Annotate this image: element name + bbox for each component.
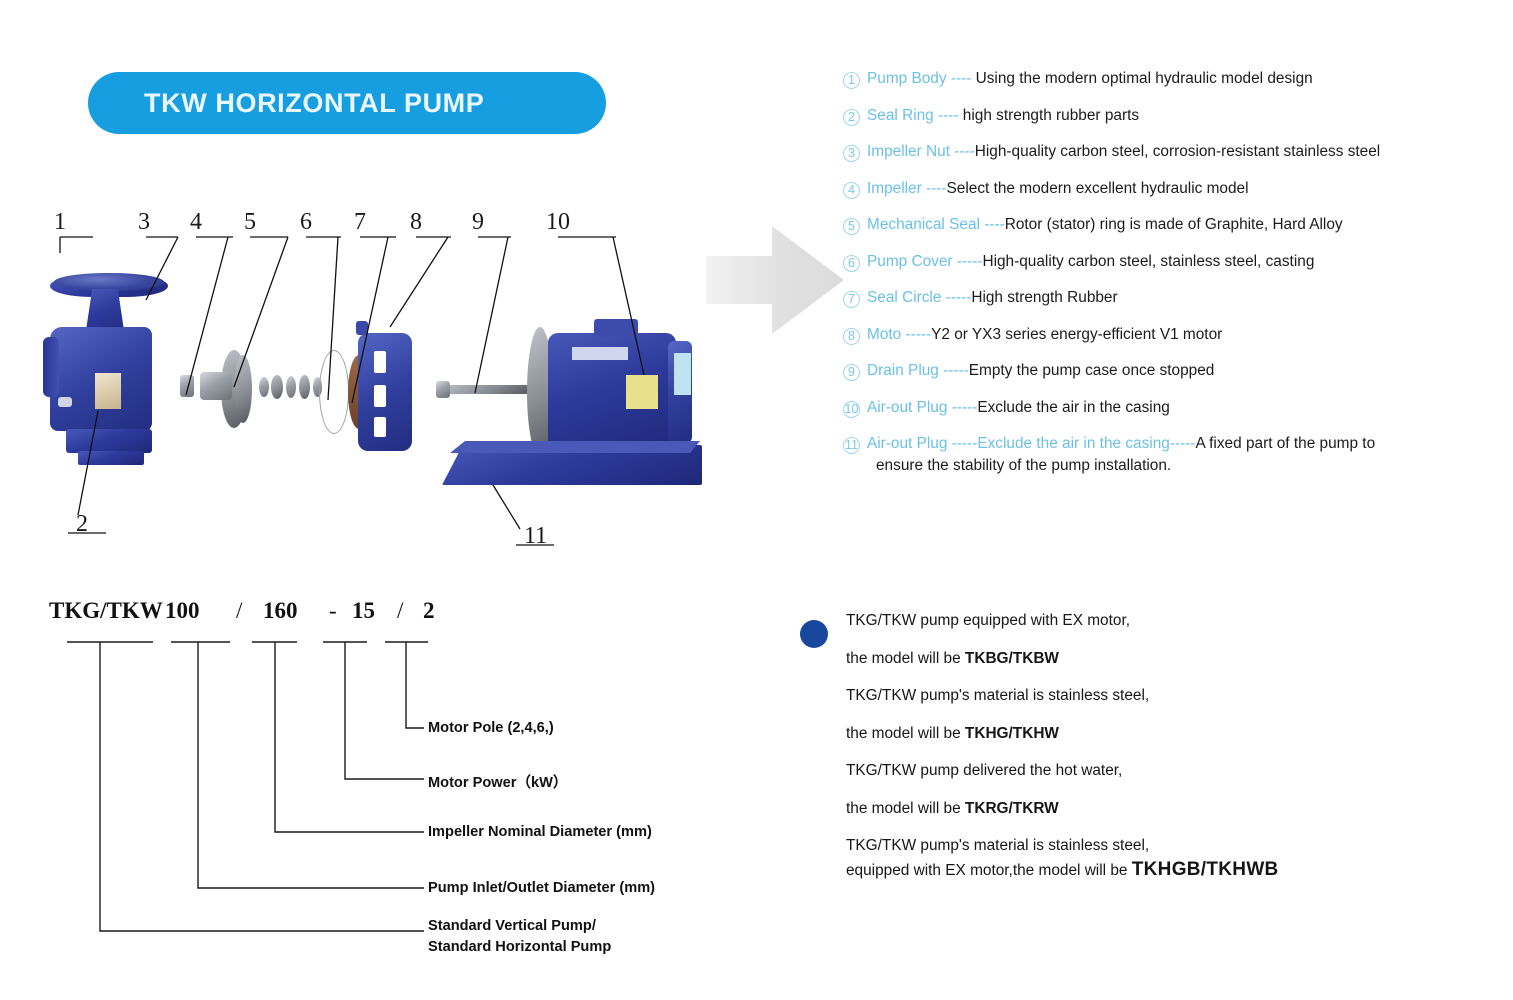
feature-number-6: 6 [843,255,860,272]
page-title: TKW HORIZONTAL PUMP [88,88,484,119]
callout-number-9: 9 [472,209,484,236]
feature-text-3: Impeller Nut ----High-quality carbon ste… [867,143,1503,162]
note-1-pre: TKG [846,612,878,629]
feature-dash2-11: ----- [1170,435,1196,452]
model-code-leader-lines [40,598,740,958]
feature-dash-3: ---- [950,143,975,160]
feature-item-3: 3 Impeller Nut ----High-quality carbon s… [843,143,1503,162]
feature-desc-8: Y2 or YX3 series energy-efficient V1 mot… [931,326,1222,343]
feature-desc-3: High-quality carbon steel, corrosion-res… [975,143,1380,160]
feature-desc-1: Using the modern optimal hydraulic model… [976,70,1313,87]
note-2-plain: the model will be [846,650,965,667]
feature-label-10: Air-out Plug [867,399,947,416]
feature-dash-5: ---- [980,216,1005,233]
model-code-diagram: TKG/TKW 100 / 160 - 15 / 2 [40,598,740,958]
note-line-3: TKG/TKW pump's material is stainless ste… [846,687,1440,705]
note-7-post: TKW pump's material is stainless steel, [882,837,1149,854]
feature-item-1: 1 Pump Body ---- Using the modern optima… [843,70,1503,89]
feature-desc-6: High-quality carbon steel, stainless ste… [982,253,1314,270]
title-banner: TKW HORIZONTAL PUMP [88,72,606,134]
model-label-standard-pump-line2: Standard Horizontal Pump [428,937,611,958]
feature-label-11: Air-out Plug [867,435,947,452]
feature-label-2: Seal Ring [867,107,934,124]
feature-text-1: Pump Body ---- Using the modern optimal … [867,70,1503,89]
feature-number-1: 1 [843,72,860,89]
feature-text-6: Pump Cover -----High-quality carbon stee… [867,253,1503,272]
poster-root: TKW HORIZONTAL PUMP [0,0,1513,1000]
model-label-motor-power: Motor Power（kW） [428,771,567,792]
note-line-2: the model will be TKBG/TKBW [846,650,1440,668]
exploded-pump-diagram: 1 3 4 5 6 7 8 9 10 2 11 [38,215,678,555]
note-7-pre: TKG [846,837,878,854]
note-2-model: TKBG/TKBW [965,650,1059,667]
feature-label-7: Seal Circle [867,289,941,306]
feature-number-9: 9 [843,364,860,381]
model-label-inlet-outlet-diameter: Pump Inlet/Outlet Diameter (mm) [428,880,655,896]
feature-number-11: 11 [843,437,860,454]
callout-number-4: 4 [190,209,202,236]
model-label-standard-pump: Standard Vertical Pump/ Standard Horizon… [428,916,611,957]
feature-dash-6: ----- [953,253,983,270]
note-8-model: TKHGB/TKHWB [1132,859,1279,880]
feature-continuation-11: ensure the stability of the pump install… [867,457,1503,476]
feature-desc-alt-11: Exclude the air in the casing [977,435,1170,452]
feature-text-5: Mechanical Seal ----Rotor (stator) ring … [867,216,1503,235]
feature-text-9: Drain Plug -----Empty the pump case once… [867,362,1503,381]
feature-label-5: Mechanical Seal [867,216,980,233]
feature-list: 1 Pump Body ---- Using the modern optima… [843,70,1503,493]
note-5-pre: TKG [846,762,878,779]
callout-number-7: 7 [354,209,366,236]
feature-item-9: 9 Drain Plug -----Empty the pump case on… [843,362,1503,381]
feature-number-5: 5 [843,218,860,235]
feature-dash-11: ----- [947,435,977,452]
feature-item-10: 10 Air-out Plug -----Exclude the air in … [843,399,1503,418]
callout-number-10: 10 [546,209,570,236]
feature-dash-9: ----- [939,362,969,379]
note-1-post: TKW pump equipped with EX motor, [882,612,1130,629]
note-line-8: equipped with EX motor,the model will be… [846,859,1440,881]
callout-number-11: 11 [524,523,547,550]
feature-dash-4: ---- [922,180,947,197]
arrow-right-icon [706,222,846,338]
note-line-4: the model will be TKHG/TKHW [846,725,1440,743]
feature-dash-7: ----- [941,289,971,306]
feature-desc-7: High strength Rubber [971,289,1117,306]
feature-desc-4: Select the modern excellent hydraulic mo… [947,180,1249,197]
feature-text-8: Moto -----Y2 or YX3 series energy-effici… [867,326,1503,345]
note-5-post: TKW pump delivered the hot water, [882,762,1122,779]
note-line-5: TKG/TKW pump delivered the hot water, [846,762,1440,780]
feature-item-6: 6 Pump Cover -----High-quality carbon st… [843,253,1503,272]
feature-text-10: Air-out Plug -----Exclude the air in the… [867,399,1503,418]
note-3-pre: TKG [846,687,878,704]
feature-text-2: Seal Ring ---- high strength rubber part… [867,107,1503,126]
note-line-6: the model will be TKRG/TKRW [846,800,1440,818]
feature-dash-8: ----- [901,326,931,343]
feature-desc-2: high strength rubber parts [963,107,1139,124]
feature-label-4: Impeller [867,180,922,197]
feature-item-5: 5 Mechanical Seal ----Rotor (stator) rin… [843,216,1503,235]
notes-lines: TKG/TKW pump equipped with EX motor, the… [846,612,1440,881]
callout-number-5: 5 [244,209,256,236]
note-line-1: TKG/TKW pump equipped with EX motor, [846,612,1440,630]
feature-item-11: 11 Air-out Plug -----Exclude the air in … [843,435,1503,476]
feature-number-4: 4 [843,182,860,199]
callout-number-2: 2 [76,511,88,538]
feature-label-3: Impeller Nut [867,143,950,160]
feature-number-3: 3 [843,145,860,162]
note-line-7: TKG/TKW pump's material is stainless ste… [846,837,1440,855]
feature-text-7: Seal Circle -----High strength Rubber [867,289,1503,308]
feature-number-2: 2 [843,109,860,126]
feature-item-4: 4 Impeller ----Select the modern excelle… [843,180,1503,199]
feature-desc-10: Exclude the air in the casing [977,399,1170,416]
feature-number-8: 8 [843,328,860,345]
note-4-model: TKHG/TKHW [965,725,1059,742]
feature-dash-10: ----- [947,399,977,416]
model-label-standard-pump-line1: Standard Vertical Pump/ [428,916,611,937]
model-label-impeller-diameter: Impeller Nominal Diameter (mm) [428,824,652,840]
model-variants-notes: TKG/TKW pump equipped with EX motor, the… [800,612,1440,901]
callout-number-1: 1 [54,209,66,236]
feature-item-2: 2 Seal Ring ---- high strength rubber pa… [843,107,1503,126]
callout-number-6: 6 [300,209,312,236]
feature-desc-9: Empty the pump case once stopped [969,362,1215,379]
bullet-dot-icon [800,620,828,648]
note-4-plain: the model will be [846,725,965,742]
callout-number-3: 3 [138,209,150,236]
feature-item-8: 8 Moto -----Y2 or YX3 series energy-effi… [843,326,1503,345]
feature-dash-2: ---- [934,107,963,124]
feature-label-1: Pump Body [867,70,947,87]
feature-text-4: Impeller ----Select the modern excellent… [867,180,1503,199]
feature-number-7: 7 [843,291,860,308]
feature-text-11: Air-out Plug -----Exclude the air in the… [867,435,1503,476]
note-6-model: TKRG/TKRW [965,800,1059,817]
feature-number-10: 10 [843,401,860,418]
model-label-motor-pole: Motor Pole (2,4,6,) [428,720,554,736]
callout-leader-lines [38,215,678,555]
feature-desc-5: Rotor (stator) ring is made of Graphite,… [1005,216,1343,233]
feature-desc-11: A fixed part of the pump to [1195,435,1375,452]
note-3-post: TKW pump's material is stainless steel, [882,687,1149,704]
note-6-plain: the model will be [846,800,965,817]
feature-dash-1: ---- [947,70,976,87]
feature-label-9: Drain Plug [867,362,939,379]
feature-label-6: Pump Cover [867,253,953,270]
note-8-plain: equipped with EX motor,the model will be [846,862,1132,879]
callout-number-8: 8 [410,209,422,236]
feature-item-7: 7 Seal Circle -----High strength Rubber [843,289,1503,308]
feature-label-8: Moto [867,326,901,343]
